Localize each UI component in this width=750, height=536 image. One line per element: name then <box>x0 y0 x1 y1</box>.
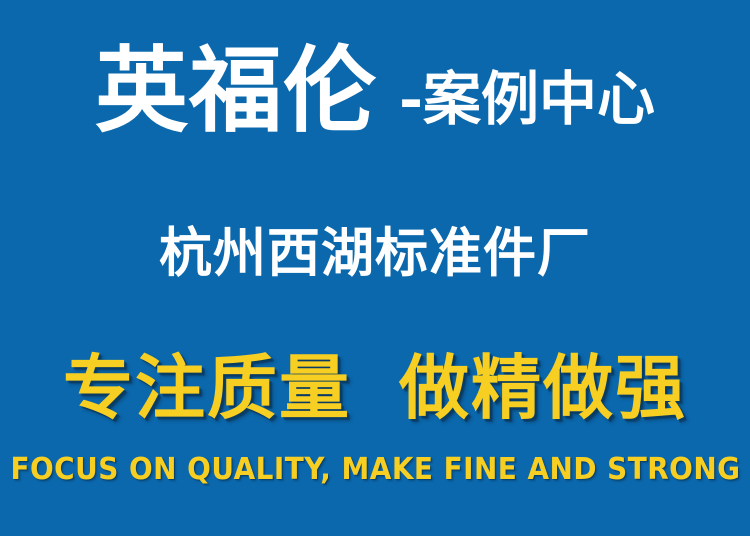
slogan-chinese-first: 专注质量 <box>63 353 351 423</box>
brand-header-row: 英福伦 -案例中心 <box>0 38 750 148</box>
slogan-chinese-row: 专注质量 做精做强 <box>0 345 750 431</box>
slogan-english: FOCUS ON QUALITY, MAKE FINE AND STRONG <box>10 455 740 485</box>
slogan-english-row: FOCUS ON QUALITY, MAKE FINE AND STRONG <box>0 449 750 491</box>
promotional-banner: 英福伦 -案例中心 杭州西湖标准件厂 专注质量 做精做强 FOCUS ON QU… <box>0 0 750 536</box>
factory-name: 杭州西湖标准件厂 <box>159 227 591 280</box>
company-name-row: 杭州西湖标准件厂 <box>0 213 750 293</box>
slogan-chinese-second: 做精做强 <box>399 353 687 423</box>
brand-name: 英福伦 <box>95 45 377 138</box>
section-label: -案例中心 <box>399 70 655 128</box>
